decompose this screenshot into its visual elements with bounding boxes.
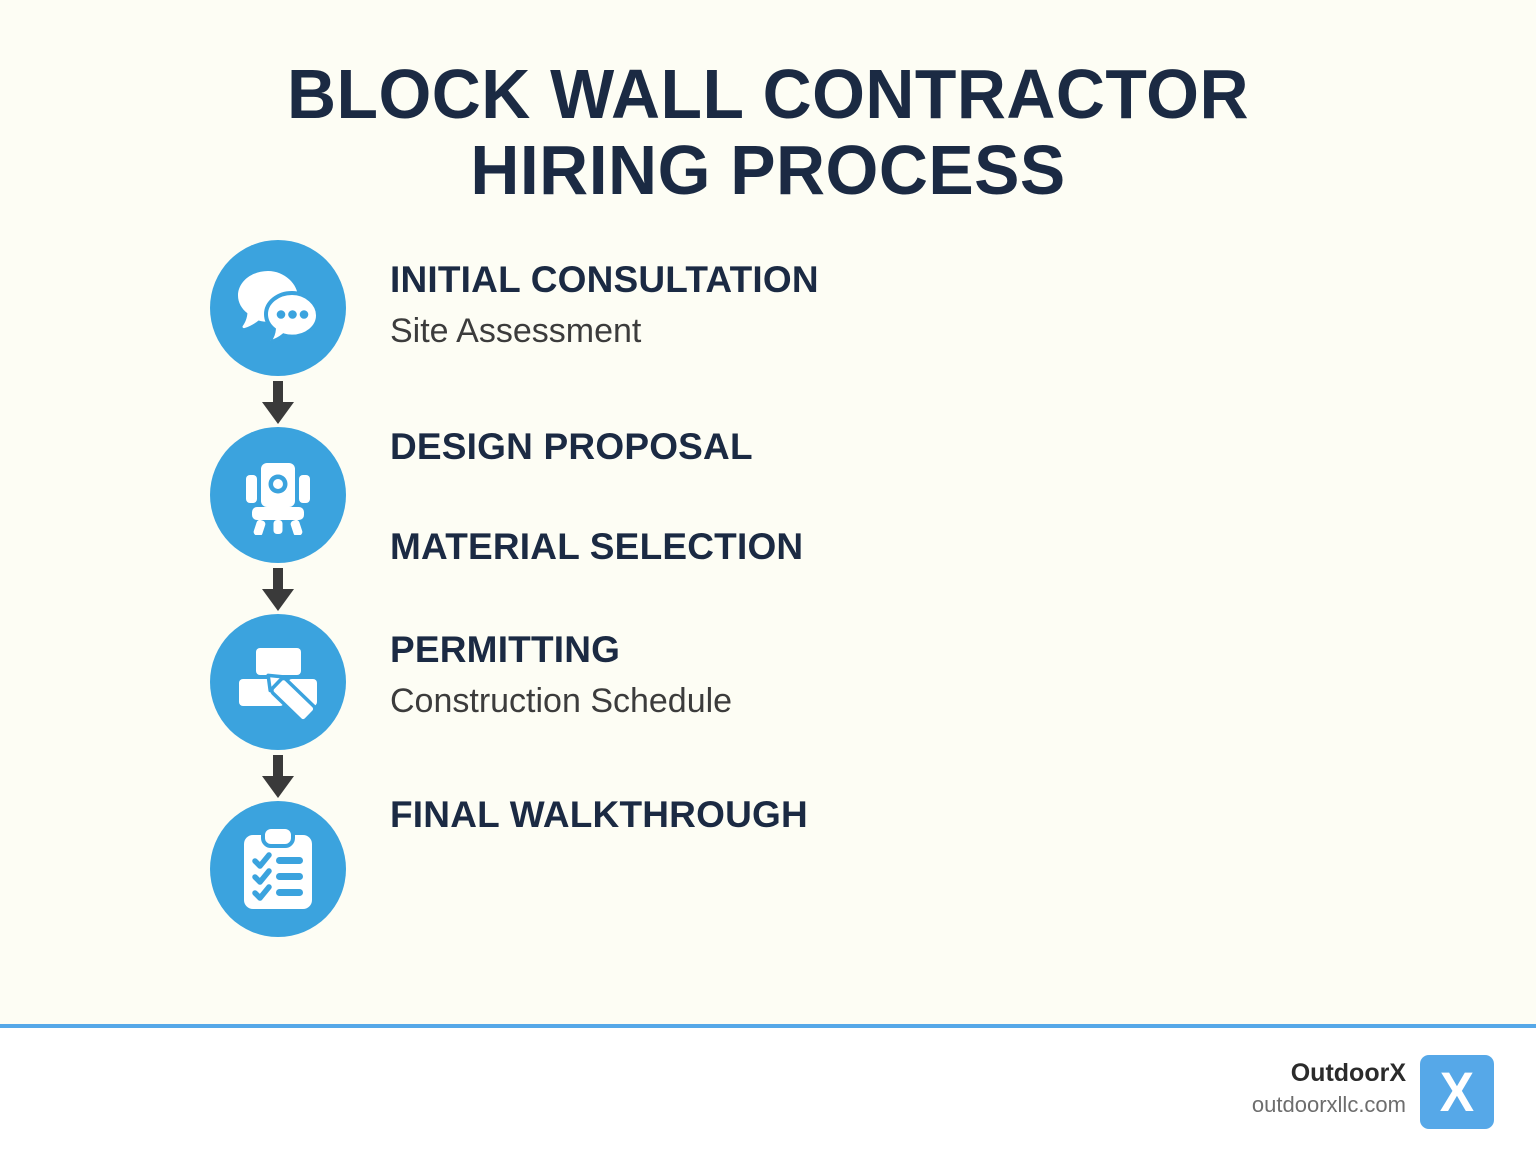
step-icon-design-proposal[interactable] [210,427,346,563]
brand-logo-letter: X [1423,1055,1491,1129]
entry-heading: PERMITTING [390,628,732,672]
step-icon-permitting[interactable] [210,614,346,750]
infographic-slide: BLOCK WALL CONTRACTOR HIRING PROCESS [0,0,1536,1154]
entry-heading: DESIGN PROPOSAL [390,425,753,469]
arrow-down-icon-3 [260,755,296,799]
process-entry-final-walkthrough: FINAL WALKTHROUGH [390,793,808,837]
step-icon-final-walkthrough[interactable] [210,801,346,937]
brand-url[interactable]: outdoorxllc.com [1252,1092,1406,1118]
entry-subtitle: Site Assessment [390,311,819,351]
chat-bubbles-icon [235,269,321,347]
process-entry-design-proposal: DESIGN PROPOSAL [390,425,753,469]
process-entry-initial-consultation: INITIAL CONSULTATION Site Assessment [390,258,819,351]
brand-name: OutdoorX [1252,1058,1406,1088]
process-flow: INITIAL CONSULTATION Site Assessment DES… [0,240,1536,940]
process-label-column: INITIAL CONSULTATION Site Assessment DES… [390,240,1390,940]
clipboard-checklist-icon [242,827,314,911]
process-entry-material-selection: MATERIAL SELECTION [390,525,803,569]
brand-logo[interactable]: X [1420,1055,1494,1129]
entry-heading: MATERIAL SELECTION [390,525,803,569]
arrow-down-icon-1 [260,381,296,425]
page-title-line-1: BLOCK WALL CONTRACTOR [23,56,1513,132]
step-icon-initial-consultation[interactable] [210,240,346,376]
process-icon-rail [210,240,346,940]
page-title-line-2: HIRING PROCESS [23,132,1513,208]
entry-subtitle: Construction Schedule [390,681,732,721]
entry-heading: INITIAL CONSULTATION [390,258,819,302]
process-entry-permitting: PERMITTING Construction Schedule [390,628,732,721]
page-title: BLOCK WALL CONTRACTOR HIRING PROCESS [0,56,1536,208]
surveying-theodolite-icon [238,455,318,535]
entry-heading: FINAL WALKTHROUGH [390,793,808,837]
arrow-down-icon-2 [260,568,296,612]
brand-text: OutdoorX outdoorxllc.com [1252,1058,1406,1118]
footer: OutdoorX outdoorxllc.com X [0,1028,1536,1154]
brick-blocks-pencil-icon [236,642,320,722]
